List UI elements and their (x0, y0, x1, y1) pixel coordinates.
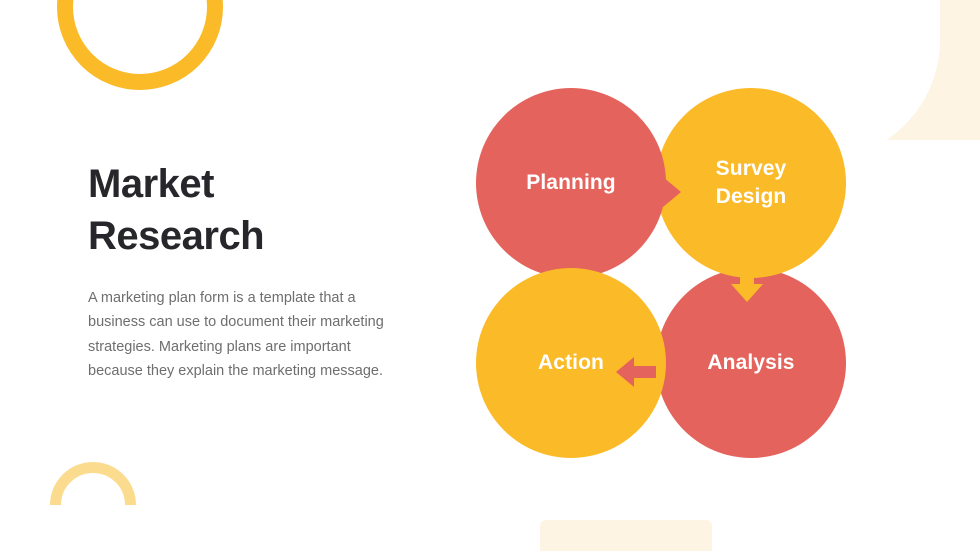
diagram-node-action-label: Action (538, 349, 604, 377)
slide-canvas: Market Research A marketing plan form is… (0, 0, 980, 551)
page-body-text: A marketing plan form is a template that… (88, 286, 388, 383)
diagram-node-survey-design[interactable]: Survey Design (656, 88, 846, 278)
decoration-block-bottom-center (540, 520, 712, 551)
decoration-ring-top-left (57, 0, 223, 90)
page-title: Market Research (88, 158, 388, 262)
decoration-arch-bottom-left (50, 462, 136, 548)
cycle-diagram: Planning Survey Design Analysis Action (460, 80, 860, 480)
arrow-right-icon (643, 172, 683, 217)
arrow-left-icon (612, 352, 656, 397)
arrow-down-icon (727, 252, 767, 309)
text-column: Market Research A marketing plan form is… (88, 158, 388, 383)
diagram-node-analysis-label: Analysis (707, 349, 794, 377)
diagram-node-survey-design-label: Survey Design (716, 155, 787, 212)
diagram-node-planning-label: Planning (526, 169, 615, 197)
diagram-node-planning[interactable]: Planning (476, 88, 666, 278)
